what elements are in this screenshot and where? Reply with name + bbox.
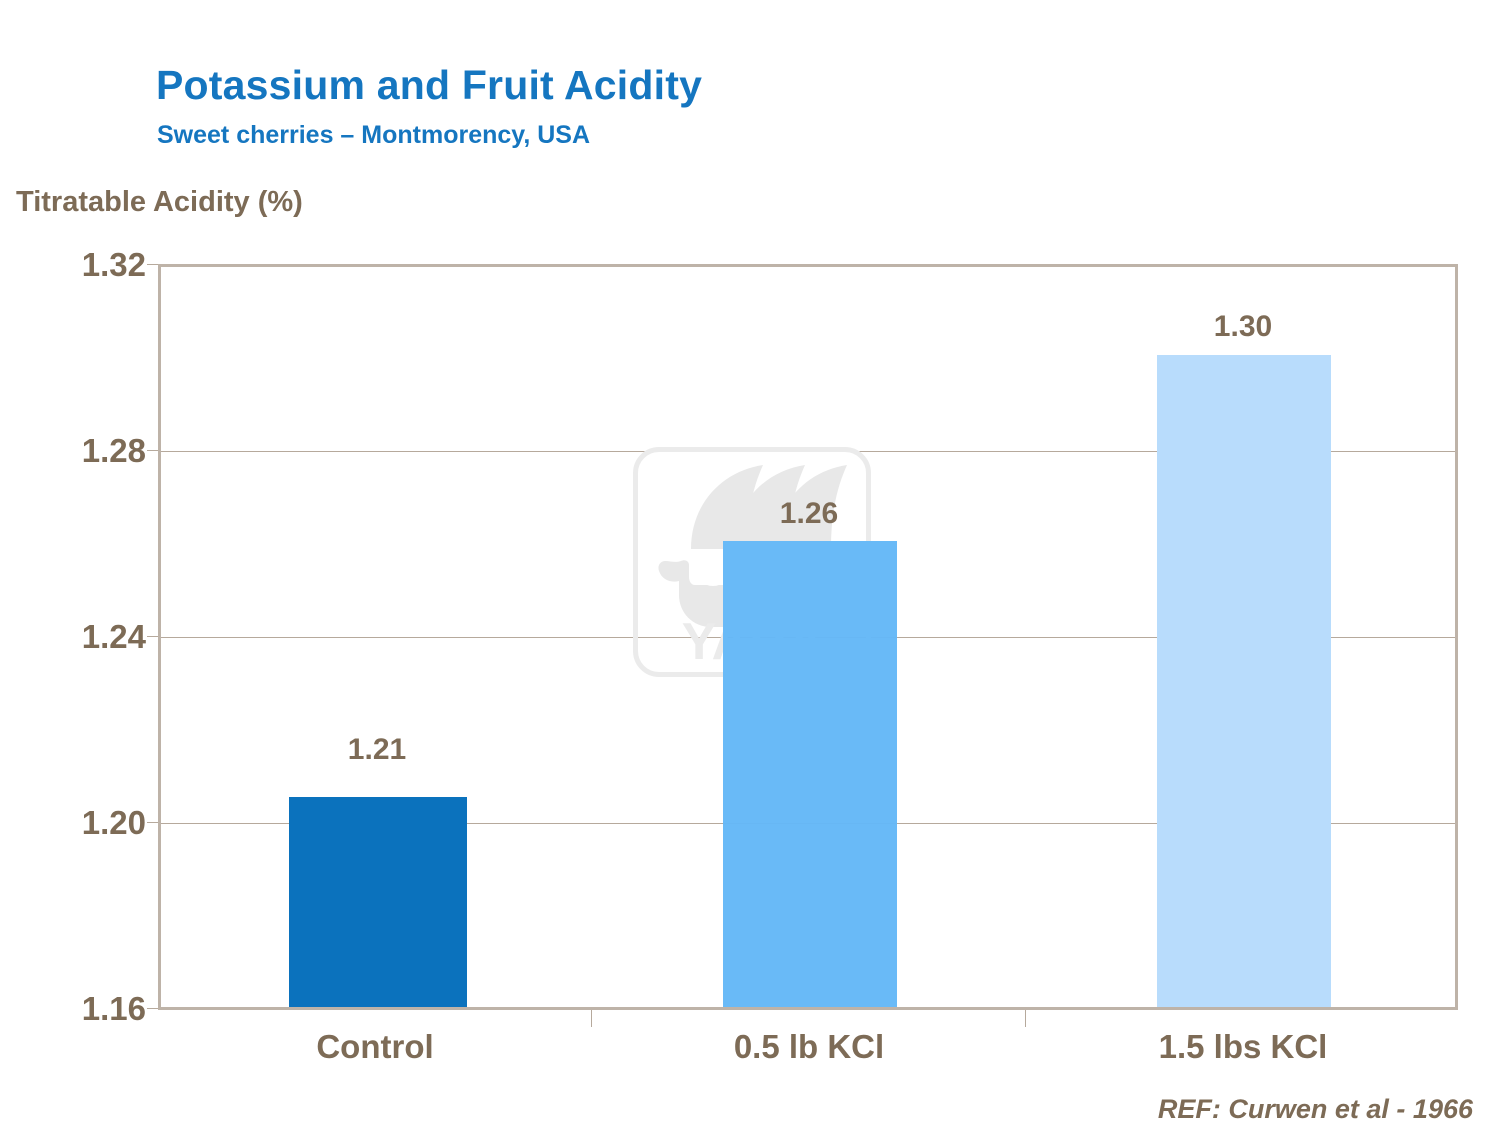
y-axis-title: Titratable Acidity (%): [16, 186, 303, 219]
y-tick-label-4: 1.16: [82, 990, 146, 1028]
x-tick-mark-1: [1025, 1010, 1026, 1027]
y-tick-mark-1: [147, 450, 158, 451]
y-tick-mark-0: [147, 264, 158, 265]
reference-note: REF: Curwen et al - 1966: [1158, 1094, 1473, 1125]
y-tick-mark-3: [147, 822, 158, 823]
bar-value-label-0-5-lb-kcl: 1.26: [721, 497, 897, 531]
y-tick-label-1: 1.28: [82, 432, 146, 470]
y-tick-label-2: 1.24: [82, 618, 146, 656]
x-tick-label-control: Control: [160, 1028, 590, 1066]
chart-subtitle: Sweet cherries – Montmorency, USA: [157, 121, 590, 150]
x-tick-mark-0: [591, 1010, 592, 1027]
bar-0-5-lb-kcl[interactable]: [723, 541, 897, 1007]
bar-1-5-lbs-kcl[interactable]: [1157, 355, 1331, 1007]
bar-value-label-1-5-lbs-kcl: 1.30: [1155, 310, 1331, 344]
plot-area: YARA: [158, 264, 1458, 1010]
x-tick-label-0-5-lb-kcl: 0.5 lb KCl: [594, 1028, 1024, 1066]
x-tick-label-1-5-lbs-kcl: 1.5 lbs KCl: [1028, 1028, 1458, 1066]
bar-control[interactable]: [289, 797, 467, 1007]
bar-value-label-control: 1.21: [287, 733, 467, 767]
page-title: Potassium and Fruit Acidity: [156, 62, 702, 109]
y-tick-label-3: 1.20: [82, 804, 146, 842]
y-tick-mark-4: [147, 1008, 158, 1009]
y-tick-label-0: 1.32: [82, 246, 146, 284]
y-tick-mark-2: [147, 636, 158, 637]
